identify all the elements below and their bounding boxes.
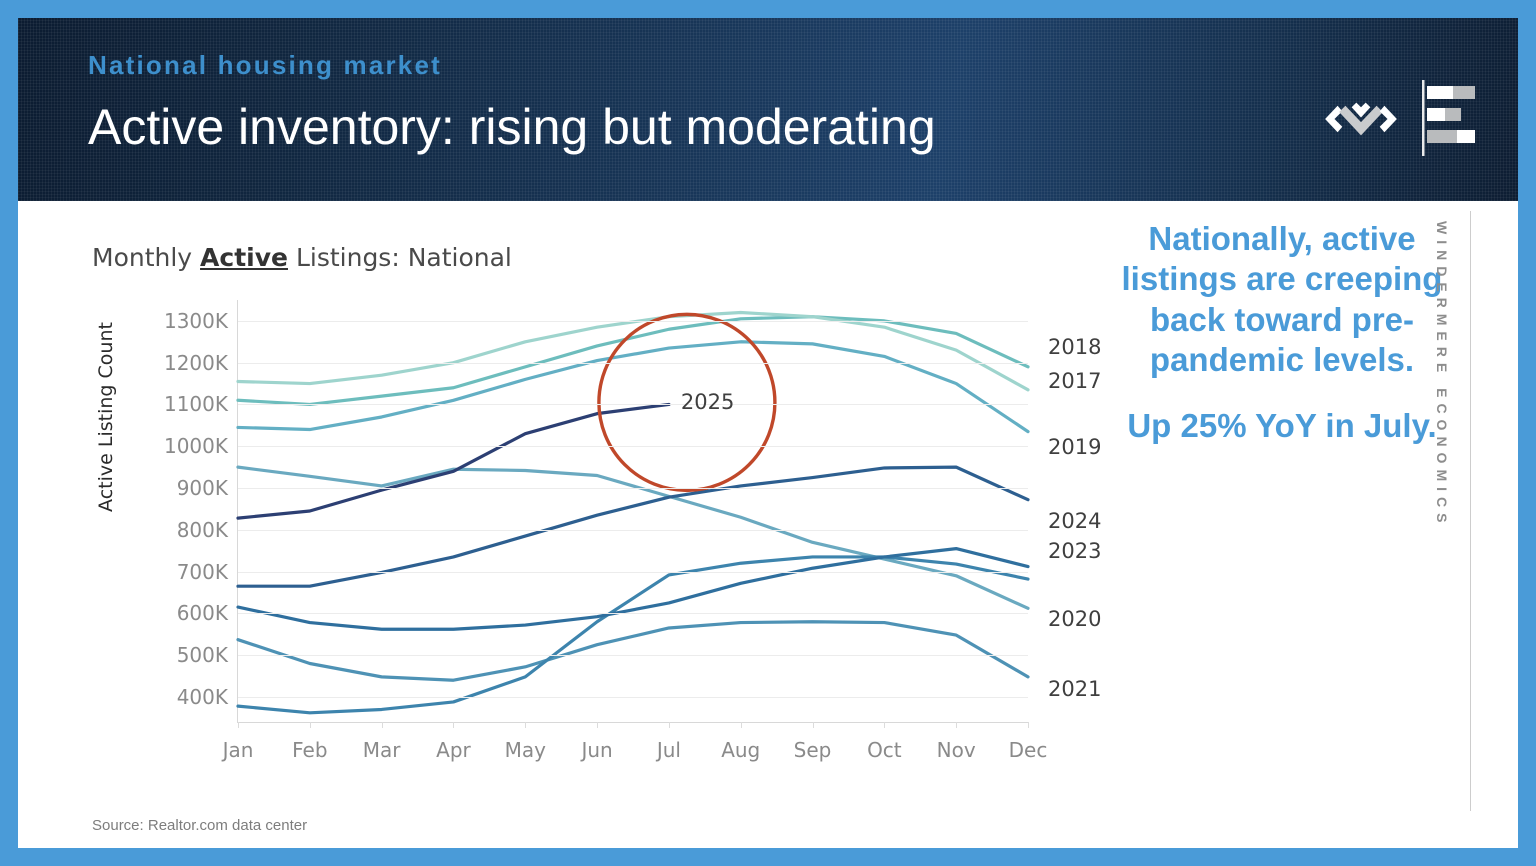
gridline: [238, 363, 1028, 364]
x-axis-tick: Apr: [436, 738, 471, 762]
x-axis-tick: Feb: [292, 738, 327, 762]
x-axis-tick: Aug: [721, 738, 760, 762]
x-axis-tick-mark: [310, 722, 311, 728]
series-end-label-2017: 2017: [1048, 369, 1101, 393]
y-axis-label: Active Listing Count: [95, 302, 117, 532]
source-note: Source: Realtor.com data center: [92, 817, 307, 834]
chart-title: Monthly Active Listings: National: [92, 243, 512, 272]
x-axis-tick: Jul: [657, 738, 681, 762]
x-axis-tick: Oct: [867, 738, 902, 762]
y-axis-tick: 1100K: [164, 392, 228, 416]
gridline: [238, 321, 1028, 322]
commentary-block: Nationally, active listings are creeping…: [1108, 219, 1456, 446]
gridline: [238, 613, 1028, 614]
x-axis-tick-mark: [238, 722, 239, 728]
x-axis-tick-mark: [956, 722, 957, 728]
y-axis-tick: 900K: [177, 476, 228, 500]
commentary-line-1: Nationally, active listings are creeping…: [1108, 219, 1456, 380]
y-axis-tick: 1200K: [164, 351, 228, 375]
x-axis-tick: Jun: [581, 738, 612, 762]
series-end-label-2020: 2020: [1048, 607, 1101, 631]
slide-canvas: National housing market Active inventory…: [18, 18, 1518, 848]
x-axis-tick: May: [505, 738, 546, 762]
x-axis-tick-mark: [884, 722, 885, 728]
gridline: [238, 404, 1028, 405]
chart-title-pre: Monthly: [92, 243, 200, 272]
series-end-label-2023: 2023: [1048, 539, 1101, 563]
slide: National housing market Active inventory…: [0, 0, 1536, 866]
economics-bars-logo: [1418, 78, 1480, 158]
y-axis-tick: 500K: [177, 643, 228, 667]
y-axis-tick: 600K: [177, 601, 228, 625]
page-title: Active inventory: rising but moderating: [88, 98, 936, 156]
y-axis-tick: 800K: [177, 518, 228, 542]
x-axis-tick-mark: [597, 722, 598, 728]
brand-vertical-label: WINDERMERE ECONOMICS: [1434, 221, 1450, 521]
vertical-divider: [1470, 211, 1471, 811]
slide-body: Monthly Active Listings: National Active…: [18, 201, 1518, 848]
series-line-2017: [238, 317, 1028, 405]
series-line-2021: [238, 622, 1028, 680]
line-chart: Active Listing Count 400K500K600K700K800…: [92, 286, 1102, 786]
gridline: [238, 572, 1028, 573]
series-end-label-2024: 2024: [1048, 509, 1101, 533]
series-end-label-2019: 2019: [1048, 435, 1101, 459]
x-axis-tick: Sep: [794, 738, 832, 762]
x-axis-tick-mark: [1028, 722, 1029, 728]
chart-title-emphasis: Active: [200, 243, 288, 272]
series-end-label-2021: 2021: [1048, 677, 1101, 701]
header-eyebrow: National housing market: [88, 50, 442, 81]
gridline: [238, 697, 1028, 698]
x-axis-tick-mark: [525, 722, 526, 728]
chart-plot-area: 400K500K600K700K800K900K1000K1100K1200K1…: [238, 300, 1028, 722]
y-axis-tick: 1000K: [164, 434, 228, 458]
x-axis-tick-mark: [813, 722, 814, 728]
gridline: [238, 446, 1028, 447]
slide-header: National housing market Active inventory…: [18, 18, 1518, 201]
windermere-w-logo: [1322, 94, 1400, 144]
gridline: [238, 488, 1028, 489]
series-line-2019: [238, 342, 1028, 432]
y-axis-tick: 1300K: [164, 309, 228, 333]
x-axis-tick: Dec: [1009, 738, 1048, 762]
x-axis-tick: Jan: [223, 738, 254, 762]
y-axis-tick: 700K: [177, 560, 228, 584]
commentary-line-2: Up 25% YoY in July.: [1108, 406, 1456, 446]
chart-title-post: Listings: National: [288, 243, 512, 272]
gridline: [238, 530, 1028, 531]
x-axis-tick-mark: [669, 722, 670, 728]
x-axis-line: [237, 722, 1029, 723]
series-end-label-2018: 2018: [1048, 335, 1101, 359]
x-axis-tick-mark: [453, 722, 454, 728]
y-axis-tick: 400K: [177, 685, 228, 709]
x-axis-tick-mark: [741, 722, 742, 728]
x-axis-tick: Nov: [937, 738, 976, 762]
series-label-2025: 2025: [681, 390, 734, 414]
x-axis-tick-mark: [382, 722, 383, 728]
x-axis-tick: Mar: [363, 738, 401, 762]
series-line-2025: [238, 404, 669, 518]
gridline: [238, 655, 1028, 656]
